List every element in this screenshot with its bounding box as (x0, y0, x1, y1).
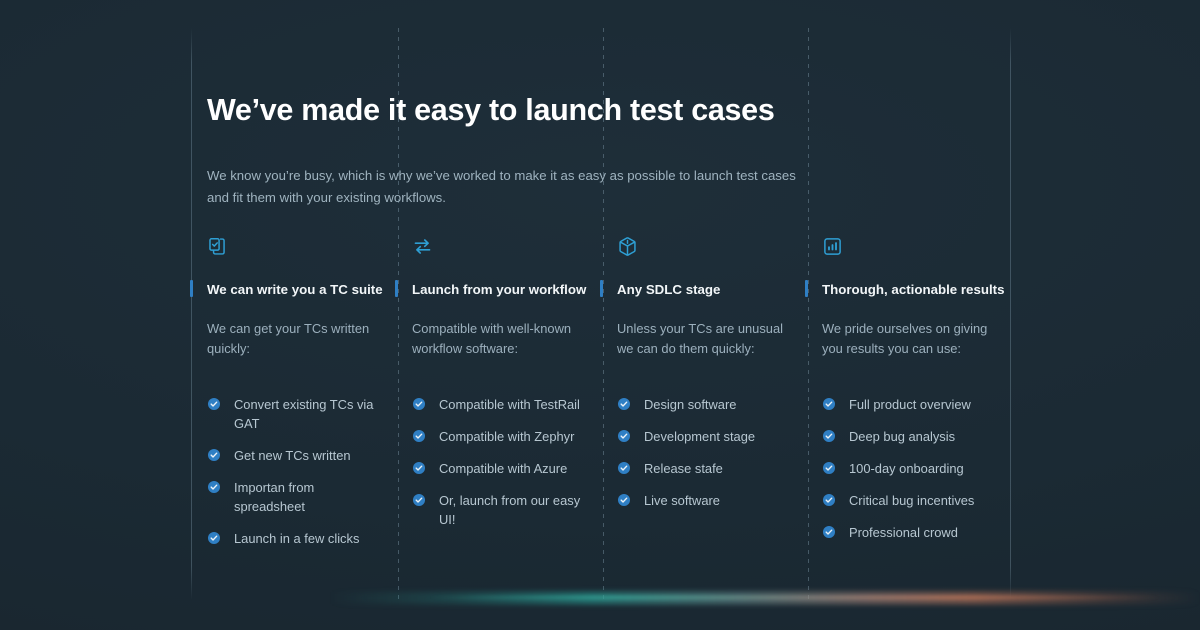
check-circle-icon (207, 448, 221, 462)
list-item: Get new TCs written (207, 446, 384, 465)
feature-column-heading: Thorough, actionable results (822, 281, 999, 298)
check-circle-icon (617, 461, 631, 475)
list-item-label: Importan from spreadsheet (234, 480, 314, 514)
feature-list: Compatible with TestRailCompatible with … (412, 395, 589, 529)
check-circle-icon (207, 480, 221, 494)
list-item: Compatible with Azure (412, 459, 589, 478)
cube-icon (617, 236, 794, 260)
clipboard-check-icon (207, 236, 384, 260)
feature-column: Launch from your workflowCompatible with… (412, 236, 617, 561)
list-item-label: Convert existing TCs via GAT (234, 397, 373, 431)
column-divider-outer-left (191, 28, 192, 600)
page-background: We’ve made it easy to launch test cases … (0, 0, 1200, 630)
feature-column-heading: We can write you a TC suite (207, 281, 384, 298)
feature-list: Full product overviewDeep bug analysis10… (822, 395, 999, 542)
feature-column-description: Compatible with well-known workflow soft… (412, 319, 589, 358)
check-circle-icon (822, 461, 836, 475)
feature-column-description: We pride ourselves on giving you results… (822, 319, 999, 358)
feature-list: Convert existing TCs via GATGet new TCs … (207, 395, 384, 548)
list-item-label: Development stage (644, 429, 755, 444)
list-item-label: 100-day onboarding (849, 461, 964, 476)
check-circle-icon (617, 397, 631, 411)
list-item-label: Get new TCs written (234, 448, 351, 463)
list-item: Live software (617, 491, 794, 510)
list-item: Compatible with Zephyr (412, 427, 589, 446)
list-item: Launch in a few clicks (207, 529, 384, 548)
check-circle-icon (412, 461, 426, 475)
list-item-label: Critical bug incentives (849, 493, 974, 508)
check-circle-icon (207, 397, 221, 411)
feature-columns: We can write you a TC suiteWe can get yo… (207, 236, 1007, 561)
list-item: Design software (617, 395, 794, 414)
list-item-label: Compatible with Azure (439, 461, 567, 476)
list-item: Critical bug incentives (822, 491, 999, 510)
check-circle-icon (822, 429, 836, 443)
check-circle-icon (617, 429, 631, 443)
feature-column-heading: Launch from your workflow (412, 281, 589, 298)
list-item-label: Full product overview (849, 397, 971, 412)
list-item-label: Deep bug analysis (849, 429, 955, 444)
list-item: Convert existing TCs via GAT (207, 395, 384, 433)
list-item-label: Release stafe (644, 461, 723, 476)
list-item: 100-day onboarding (822, 459, 999, 478)
list-item: Importan from spreadsheet (207, 478, 384, 516)
page-subtitle: We know you’re busy, which is why we’ve … (207, 165, 797, 209)
feature-column: We can write you a TC suiteWe can get yo… (207, 236, 412, 561)
feature-column-heading: Any SDLC stage (617, 281, 794, 298)
list-item: Full product overview (822, 395, 999, 414)
list-item-label: Compatible with Zephyr (439, 429, 574, 444)
check-circle-icon (822, 493, 836, 507)
check-circle-icon (412, 493, 426, 507)
list-item-label: Launch in a few clicks (234, 531, 359, 546)
list-item-label: Live software (644, 493, 720, 508)
check-circle-icon (822, 525, 836, 539)
list-item: Release stafe (617, 459, 794, 478)
list-item: Development stage (617, 427, 794, 446)
feature-column: Thorough, actionable resultsWe pride our… (822, 236, 1027, 561)
list-item-label: Compatible with TestRail (439, 397, 580, 412)
check-circle-icon (412, 397, 426, 411)
content-area: We’ve made it easy to launch test cases … (207, 0, 1007, 630)
list-item: Or, launch from our easy UI! (412, 491, 589, 529)
swap-arrows-icon (412, 236, 589, 260)
page-title: We’ve made it easy to launch test cases (207, 93, 775, 128)
feature-column-description: We can get your TCs written quickly: (207, 319, 384, 358)
bar-chart-box-icon (822, 236, 999, 260)
feature-column: Any SDLC stageUnless your TCs are unusua… (617, 236, 822, 561)
check-circle-icon (822, 397, 836, 411)
list-item: Compatible with TestRail (412, 395, 589, 414)
list-item: Deep bug analysis (822, 427, 999, 446)
list-item-label: Professional crowd (849, 525, 958, 540)
feature-list: Design softwareDevelopment stageRelease … (617, 395, 794, 510)
list-item: Professional crowd (822, 523, 999, 542)
check-circle-icon (412, 429, 426, 443)
check-circle-icon (207, 531, 221, 545)
list-item-label: Or, launch from our easy UI! (439, 493, 580, 527)
check-circle-icon (617, 493, 631, 507)
feature-column-description: Unless your TCs are unusual we can do th… (617, 319, 794, 358)
list-item-label: Design software (644, 397, 736, 412)
